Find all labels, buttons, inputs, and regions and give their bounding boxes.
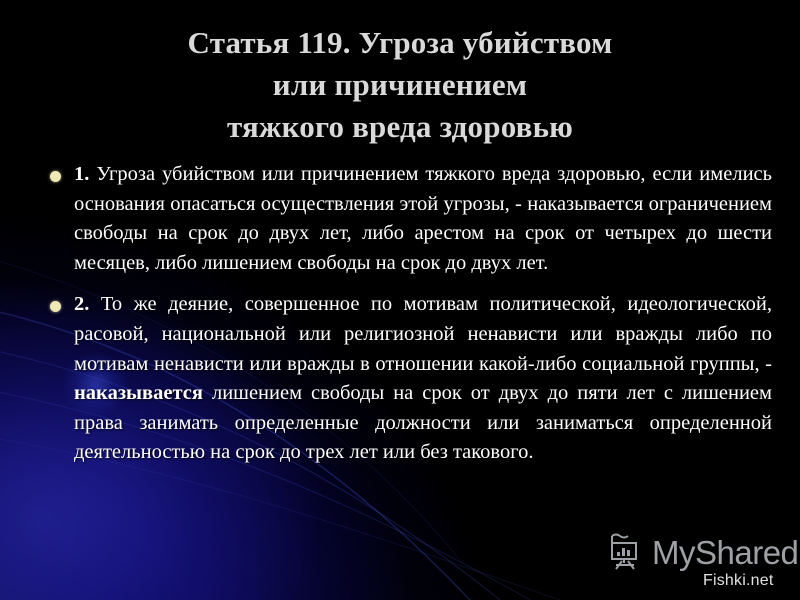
presentation-board-icon [604,531,646,573]
paragraph-2-bold-term: наказывается [74,382,203,404]
myshared-watermark-label: MyShared [652,536,798,569]
paragraph-1-text: Угроза убийством или причинением тяжкого… [74,163,772,274]
bullet-paragraph-2: 2. То же деяние, совершенное по мотивам … [28,290,772,468]
presentation-slide: Статья 119. Угроза убийством или причине… [0,0,800,600]
paragraph-2-text-before-bold: То же деяние, совершенное по мотивам пол… [74,293,772,374]
title-line-3: тяжкого вреда здоровью [60,106,740,148]
paragraph-2-number: 2. [74,293,89,315]
bullet-point-icon [50,301,61,312]
fishki-watermark: Fishki.net [703,572,773,590]
bullet-paragraph-1: 1. Угроза убийством или причинением тяжк… [28,160,772,278]
title-line-1: Статья 119. Угроза убийством [60,22,740,64]
slide-title: Статья 119. Угроза убийством или причине… [60,22,740,148]
slide-body: 1. Угроза убийством или причинением тяжк… [28,160,772,468]
title-line-2: или причинением [60,64,740,106]
paragraph-1-number: 1. [74,163,89,185]
myshared-watermark: MyShared [604,531,798,573]
bullet-point-icon [50,171,61,182]
